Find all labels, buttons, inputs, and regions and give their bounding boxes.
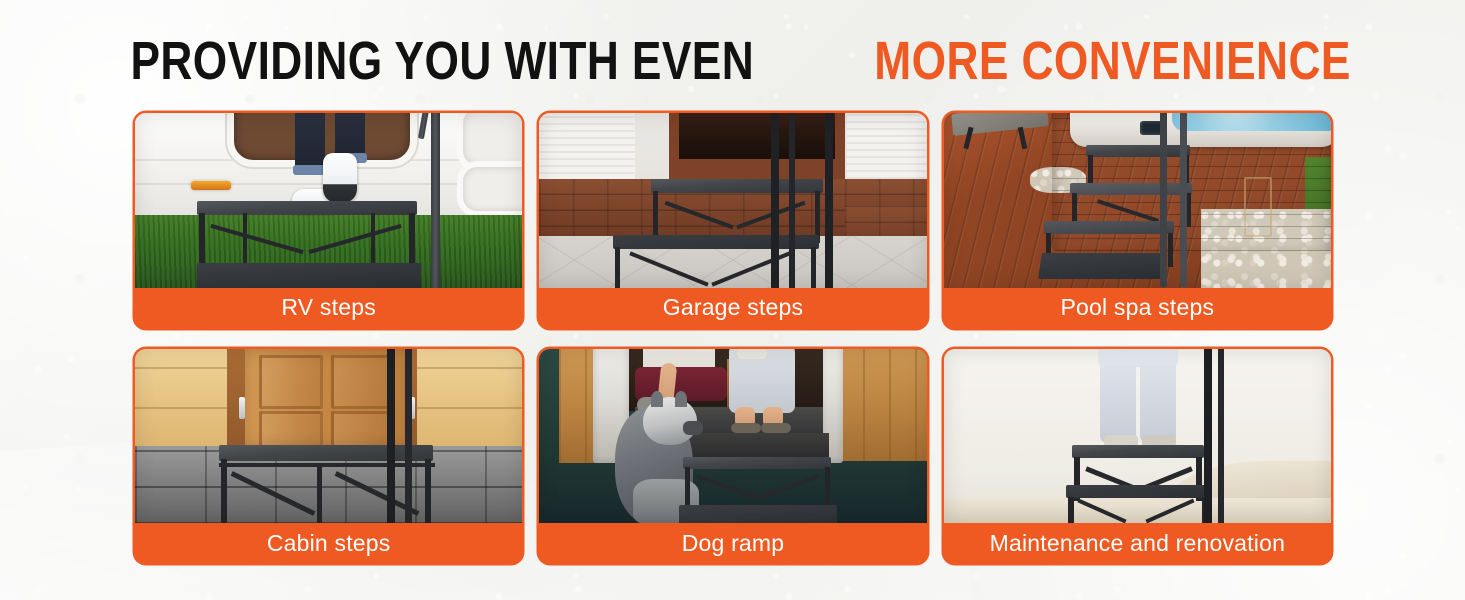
page-title: PROVIDING YOU WITH EVEN MORE CONVENIENCE xyxy=(0,34,1465,88)
page-title-primary: PROVIDING YOU WITH EVEN xyxy=(130,34,754,88)
feature-card-cabin-steps[interactable]: Cabin steps xyxy=(135,349,522,564)
dog-ramp-photo xyxy=(539,349,926,524)
pool-spa-steps-scene xyxy=(944,113,1331,288)
dog-ramp-scene xyxy=(539,349,926,524)
cabin-steps-scene xyxy=(135,349,522,524)
rv-steps-photo xyxy=(135,113,522,288)
garage-steps-photo xyxy=(539,113,926,288)
feature-card-maintenance-and-renovation[interactable]: Maintenance and renovation xyxy=(944,349,1331,564)
feature-card-caption: Pool spa steps xyxy=(944,288,1331,328)
garage-steps-scene xyxy=(539,113,926,288)
maintenance-photo xyxy=(944,349,1331,524)
feature-card-caption: Cabin steps xyxy=(135,523,522,563)
feature-card-dog-ramp[interactable]: Dog ramp xyxy=(539,349,926,564)
feature-card-caption: Dog ramp xyxy=(539,523,926,563)
cabin-steps-photo xyxy=(135,349,522,524)
feature-card-caption: Garage steps xyxy=(539,288,926,328)
pool-spa-steps-photo xyxy=(944,113,1331,288)
feature-card-rv-steps[interactable]: RV steps xyxy=(135,113,522,328)
maintenance-scene xyxy=(944,349,1331,524)
feature-card-garage-steps[interactable]: Garage steps xyxy=(539,113,926,328)
feature-card-grid: RV steps xyxy=(135,113,1331,563)
feature-card-caption: RV steps xyxy=(135,288,522,328)
rv-steps-scene xyxy=(135,113,522,288)
feature-card-caption: Maintenance and renovation xyxy=(944,523,1331,563)
page-title-accent: MORE CONVENIENCE xyxy=(875,34,1351,88)
promo-banner: PROVIDING YOU WITH EVEN MORE CONVENIENCE xyxy=(0,0,1465,600)
feature-card-pool-spa-steps[interactable]: Pool spa steps xyxy=(944,113,1331,328)
